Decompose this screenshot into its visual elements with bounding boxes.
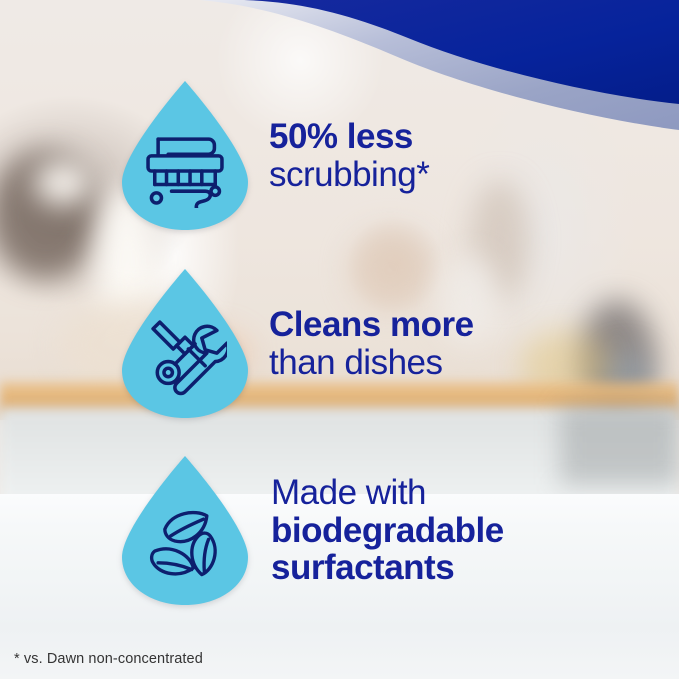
feature-row-biodegradable: Made with biodegradable surfactants [117, 453, 504, 608]
droplet-badge [117, 266, 253, 421]
background-blur-blob [34, 160, 92, 206]
feature-row-cleans-more: Cleans more than dishes [117, 266, 474, 421]
feature-row-scrubbing: 50% less scrubbing* [117, 78, 429, 233]
feature-line: than dishes [269, 344, 474, 382]
feature-line: biodegradable [271, 512, 504, 550]
feature-line: surfactants [271, 549, 504, 587]
feature-heading: 50% less scrubbing* [269, 118, 429, 194]
feature-line: 50% less [269, 118, 429, 156]
screwdriver-wrench-icon [143, 312, 227, 396]
product-benefits-image: 50% less scrubbing* [0, 0, 679, 679]
droplet-badge [117, 78, 253, 233]
scrub-brush-icon [143, 124, 227, 208]
droplet-badge [117, 453, 253, 608]
feature-line: Cleans more [269, 306, 474, 344]
feature-heading: Cleans more than dishes [269, 306, 474, 382]
background-blur-blob [560, 405, 679, 485]
feature-line: scrubbing* [269, 156, 429, 194]
feature-line: Made with [271, 474, 504, 512]
footnote-disclaimer: * vs. Dawn non-concentrated [14, 651, 203, 667]
recycling-leaves-icon [143, 499, 227, 583]
feature-heading: Made with biodegradable surfactants [271, 474, 504, 587]
